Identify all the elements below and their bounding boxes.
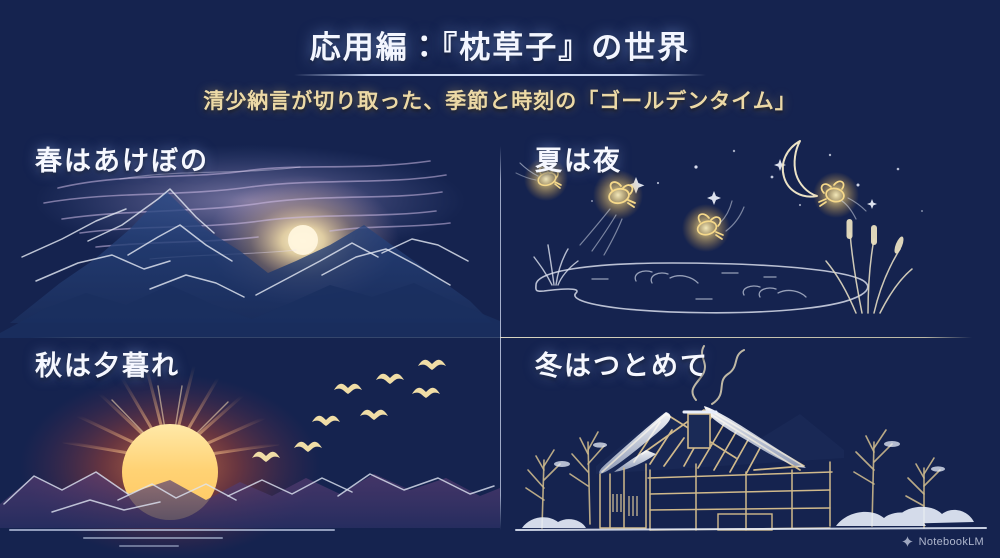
quadrant-label-autumn: 秋は夕暮れ: [35, 344, 180, 383]
quadrant-label-summer: 夏は夜: [535, 139, 622, 178]
firefly: [580, 170, 643, 255]
japanese-house: [596, 406, 844, 530]
cattails-right: [826, 219, 912, 313]
watermark-label: NotebookLM: [919, 536, 984, 548]
firefly: [682, 201, 744, 252]
ground-line: [516, 528, 986, 530]
slide-header: 応用編：『枕草子』の世界 清少納言が切り取った、季節と時刻の「ゴールデンタイム」: [0, 0, 1000, 115]
firefly: [813, 172, 866, 219]
notebooklm-spark-icon: [901, 535, 914, 548]
quadrant-autumn: 秋は夕暮れ: [0, 338, 500, 543]
window-lattice: [613, 494, 637, 516]
quadrant-winter: 冬はつとめて: [500, 338, 1000, 543]
crescent-moon-icon: [783, 141, 817, 197]
quadrant-spring: 春はあけぼの: [0, 133, 500, 338]
slide-root: 応用編：『枕草子』の世界 清少納言が切り取った、季節と時刻の「ゴールデンタイム」: [0, 0, 1000, 558]
page-title: 応用編：『枕草子』の世界: [0, 0, 1000, 67]
quadrant-label-spring: 春はあけぼの: [35, 139, 209, 178]
bare-tree: [526, 450, 560, 528]
notebooklm-watermark: NotebookLM: [901, 535, 984, 548]
title-underline: [294, 74, 706, 76]
pond-outline: [536, 263, 868, 313]
quadrant-label-winter: 冬はつとめて: [535, 344, 709, 383]
page-subtitle: 清少納言が切り取った、季節と時刻の「ゴールデンタイム」: [0, 85, 1000, 115]
quadrant-summer: 夏は夜: [500, 133, 1000, 338]
pond-ripples: [592, 271, 806, 299]
